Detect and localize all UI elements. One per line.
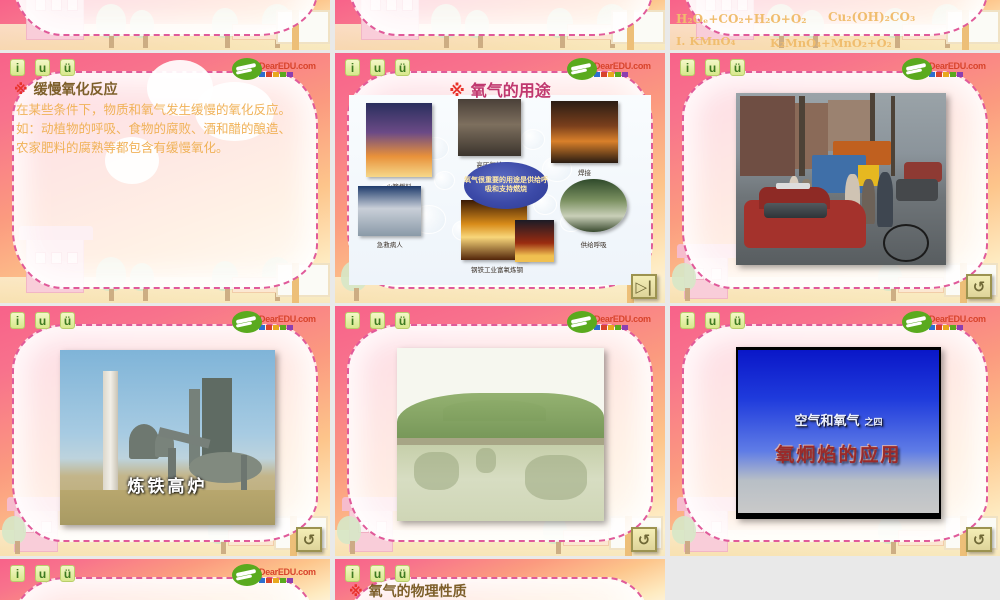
slide-thumbnail-3[interactable]: H₂Oₑ+CO₂+H₂O+O₂ Cu₂(OH)₂CO₃ I. KMnO₄ K₂M… (670, 0, 1000, 50)
dearedu-logo: DearEDU.com (902, 310, 994, 334)
pinyin-badges: i u ü (345, 59, 410, 76)
dearedu-logo: DearEDU.com (902, 57, 994, 81)
pinyin-u-umlaut: ü (730, 312, 745, 329)
pinyin-badges: i u ü (10, 312, 75, 329)
oxygen-uses-center-bubble: 氧气很重要的用途是供给呼吸和支持燃烧 (464, 162, 549, 210)
photo-first-aid (358, 186, 421, 235)
video-title-line-1: 空气和氧气之四 (738, 410, 939, 429)
logo-text: DearEDU.com (929, 61, 986, 71)
title-mark-icon: ※ (14, 82, 28, 98)
slide-thumbnail-4[interactable]: i u ü DearEDU.com ※缓慢氧化反应 在某些条件下，物质和氧气发生… (0, 53, 330, 303)
slide-4-body: 在某些条件下，物质和氧气发生缓慢的氧化反应。 如：动植物的呼吸、食物的腐败、酒和… (16, 101, 314, 158)
photo-breathing (560, 179, 626, 232)
dearedu-logo: DearEDU.com (232, 57, 324, 81)
pinyin-i: i (345, 565, 360, 582)
pinyin-u: u (370, 312, 385, 329)
pinyin-badges: i u ü (10, 59, 75, 76)
slide-thumbnail-9[interactable]: i u ü DearEDU.com 空气和氧气之四 氧炯焰的应用 (670, 306, 1000, 556)
slide-5-title-text: 氧气的用途 (471, 81, 551, 100)
pinyin-badges: i u ü (10, 565, 75, 582)
pinyin-badges: i u ü (345, 565, 410, 582)
pinyin-badges: i u ü (345, 312, 410, 329)
pinyin-badges: i u ü (680, 312, 745, 329)
pinyin-u-umlaut: ü (395, 565, 410, 582)
pinyin-i: i (345, 59, 360, 76)
slide-4-title: ※缓慢氧化反应 (14, 79, 118, 99)
logo-ellipse-icon (902, 58, 932, 80)
pinyin-u: u (370, 59, 385, 76)
pinyin-i: i (10, 565, 25, 582)
logo-text: DearEDU.com (259, 61, 316, 71)
pinyin-u: u (35, 312, 50, 329)
slide-4-title-text: 缓慢氧化反应 (34, 82, 118, 98)
pinyin-i: i (10, 59, 25, 76)
logo-text: DearEDU.com (594, 61, 651, 71)
next-slide-button[interactable]: ▷| (631, 274, 657, 299)
return-icon: ↺ (638, 531, 651, 549)
slide-thumbnail-10[interactable]: i u ü DearEDU.com (0, 559, 330, 600)
photo-video-title-card: 空气和氧气之四 氧炯焰的应用 (736, 347, 941, 519)
slide-thumbnail-1[interactable] (0, 0, 330, 50)
photo-blast-furnace: 炼铁高炉 (60, 350, 275, 525)
photo-label-steel: 钢铁工业富氧炼钢 (443, 264, 552, 274)
slide-thumbnail-6[interactable]: i u ü DearEDU.com (670, 53, 1000, 303)
logo-text: DearEDU.com (929, 314, 986, 324)
return-button[interactable]: ↺ (966, 527, 992, 552)
photo-rocket (366, 103, 432, 177)
next-slide-icon: ▷| (635, 278, 652, 296)
pinyin-i: i (10, 312, 25, 329)
photo-city-street (736, 93, 946, 265)
logo-ellipse-icon (902, 311, 932, 333)
photo-caption-blast-furnace: 炼铁高炉 (60, 472, 275, 497)
title-mark-icon: ※ (449, 81, 465, 100)
pinyin-u-umlaut: ü (60, 565, 75, 582)
logo-ellipse-icon (567, 311, 597, 333)
pinyin-badges: i u ü (680, 59, 745, 76)
pinyin-u: u (35, 565, 50, 582)
photo-lake (397, 348, 604, 521)
chem-formula-2: Cu₂(OH)₂CO₃ (828, 10, 915, 24)
logo-text: DearEDU.com (594, 314, 651, 324)
pinyin-i: i (345, 312, 360, 329)
pinyin-u: u (705, 59, 720, 76)
center-bubble-text: 氧气很重要的用途是供给呼吸和支持燃烧 (464, 176, 549, 194)
return-button[interactable]: ↺ (966, 274, 992, 299)
return-button[interactable]: ↺ (296, 527, 322, 552)
photo-hyperbaric-chamber (458, 99, 521, 156)
chem-formula-4: K₂MnO₄+MnO₂+O₂ (770, 36, 892, 50)
pinyin-u-umlaut: ü (395, 59, 410, 76)
pinyin-u-umlaut: ü (60, 312, 75, 329)
body-line-2: 如：动植物的呼吸、食物的腐败、酒和醋的酿造、 (16, 120, 314, 137)
empty-grid-cell (670, 559, 1000, 600)
pinyin-u-umlaut: ü (395, 312, 410, 329)
slide-thumbnail-2[interactable] (335, 0, 665, 50)
return-icon: ↺ (973, 278, 986, 296)
pinyin-u: u (35, 59, 50, 76)
body-line-3: 农家肥料的腐熟等都包含有缓慢氧化。 (16, 139, 314, 156)
slide-11-title: ※氧气的物理性质 (349, 581, 467, 600)
chem-formula-3: I. KMnO₄ (676, 34, 736, 48)
photo-label-first-aid: 急救病人 (352, 239, 428, 249)
photo-furnace-inset (515, 220, 554, 262)
video-title-suffix: 之四 (865, 418, 883, 428)
video-title-line-2: 氧炯焰的应用 (738, 440, 939, 467)
dearedu-logo: DearEDU.com (567, 310, 659, 334)
title-mark-icon: ※ (349, 584, 363, 600)
slide-thumbnail-7[interactable]: i u ü DearEDU.com (0, 306, 330, 556)
pinyin-i: i (680, 312, 695, 329)
logo-text: DearEDU.com (259, 567, 316, 577)
logo-ellipse-icon (232, 58, 262, 80)
slide-5-title: ※氧气的用途 (335, 77, 665, 101)
pinyin-u-umlaut: ü (60, 59, 75, 76)
body-line-1: 在某些条件下，物质和氧气发生缓慢的氧化反应。 (16, 101, 314, 118)
slide-thumbnail-5[interactable]: i u ü DearEDU.com ※氧气的用途 (335, 53, 665, 303)
oxygen-uses-panel: 火箭燃料 高压氧舱 焊接 急救病人 钢铁工业富氧炼钢 供给呼吸 氧气很重 (349, 95, 651, 285)
return-icon: ↺ (303, 531, 316, 549)
chem-formula-1: H₂Oₑ+CO₂+H₂O+O₂ (676, 12, 807, 26)
slide-thumbnail-8[interactable]: i u ü DearEDU.com (335, 306, 665, 556)
logo-ellipse-icon (232, 564, 262, 586)
slide-thumbnail-grid: H₂Oₑ+CO₂+H₂O+O₂ Cu₂(OH)₂CO₃ I. KMnO₄ K₂M… (0, 0, 1000, 600)
photo-label-breathing: 供给呼吸 (554, 239, 633, 249)
photo-welding (551, 101, 617, 164)
dearedu-logo: DearEDU.com (232, 310, 324, 334)
return-icon: ↺ (973, 531, 986, 549)
pinyin-u: u (370, 565, 385, 582)
return-button[interactable]: ↺ (631, 527, 657, 552)
pinyin-i: i (680, 59, 695, 76)
pinyin-u: u (705, 312, 720, 329)
slide-thumbnail-11[interactable]: i u ü ※氧气的物理性质 (335, 559, 665, 600)
slide-11-title-text: 氧气的物理性质 (369, 584, 467, 600)
photo-label-welding: 焊接 (545, 167, 624, 177)
video-title-main: 空气和氧气 (794, 414, 859, 429)
logo-text: DearEDU.com (259, 314, 316, 324)
pinyin-u-umlaut: ü (730, 59, 745, 76)
dearedu-logo: DearEDU.com (232, 563, 324, 587)
logo-ellipse-icon (232, 311, 262, 333)
